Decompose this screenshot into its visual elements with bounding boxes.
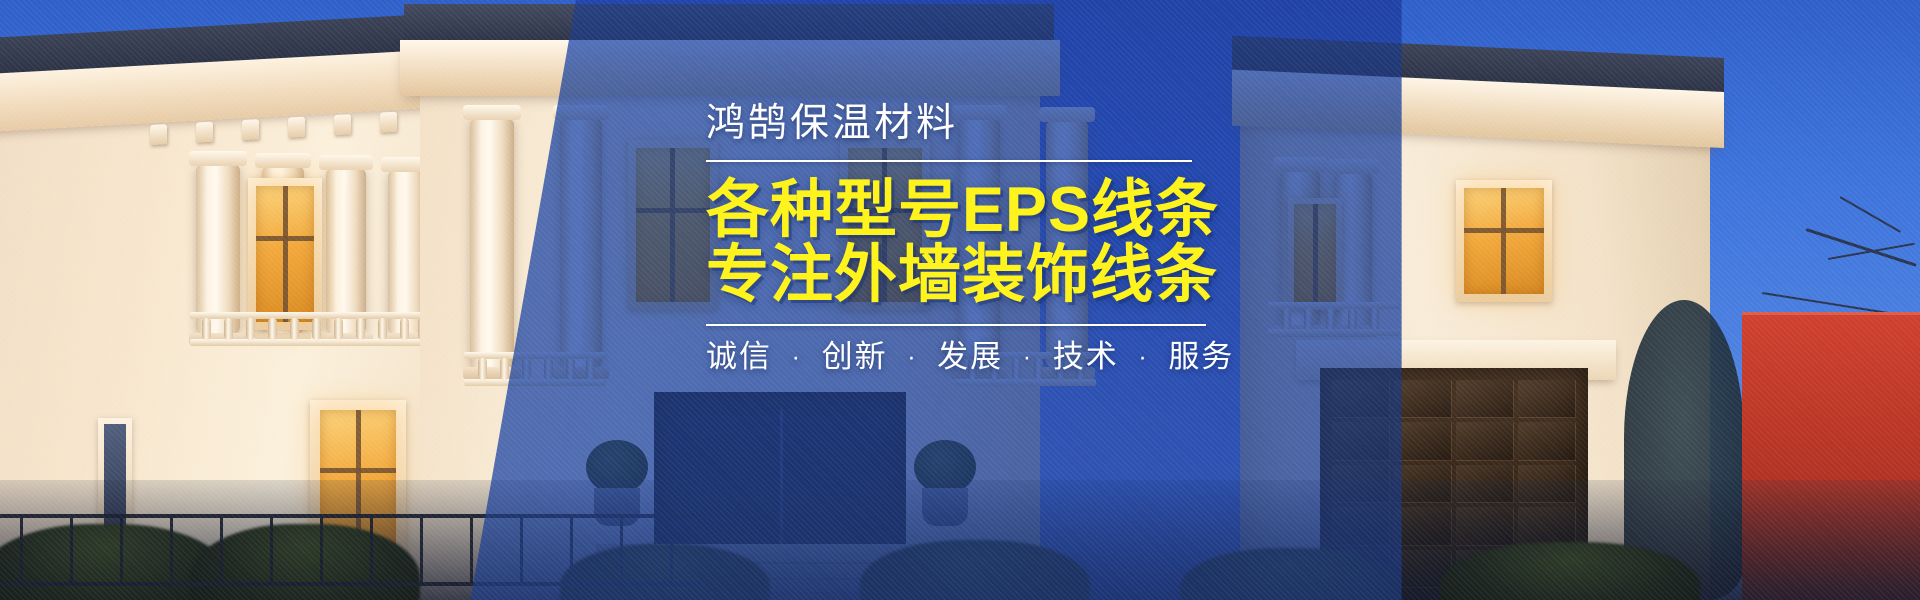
tagline-item-1: 创新 [822,339,888,374]
tagline-separator: · [1014,343,1042,371]
banner-text-block: 鸿鹄保温材料 各种型号EPS线条 专注外墙装饰线条 诚信 · 创新 · 发展 ·… [706,104,1446,372]
headline-line-1: 各种型号EPS线条 [706,175,1219,245]
column [196,164,240,334]
tagline-item-2: 发展 [937,339,1003,374]
divider-top [706,160,1192,162]
tagline-item-0: 诚信 [706,339,772,374]
headline: 各种型号EPS线条 专注外墙装饰线条 [706,178,1446,308]
tagline-separator: · [1129,343,1157,371]
tagline-separator: · [783,343,811,371]
balustrade [196,312,432,346]
column [470,118,514,368]
lit-window [1464,188,1544,294]
column [326,168,366,334]
tagline-item-4: 服务 [1168,339,1234,374]
tagline-item-3: 技术 [1053,339,1119,374]
headline-line-2: 专注外墙装饰线条 [706,243,1446,308]
divider-bottom [706,324,1206,326]
tagline: 诚信 · 创新 · 发展 · 技术 · 服务 [706,341,1446,372]
brand-name: 鸿鹄保温材料 [706,104,1446,143]
lit-window [256,186,314,322]
tagline-separator: · [898,343,926,371]
promo-banner: 鸿鹄保温材料 各种型号EPS线条 专注外墙装饰线条 诚信 · 创新 · 发展 ·… [0,0,1920,600]
